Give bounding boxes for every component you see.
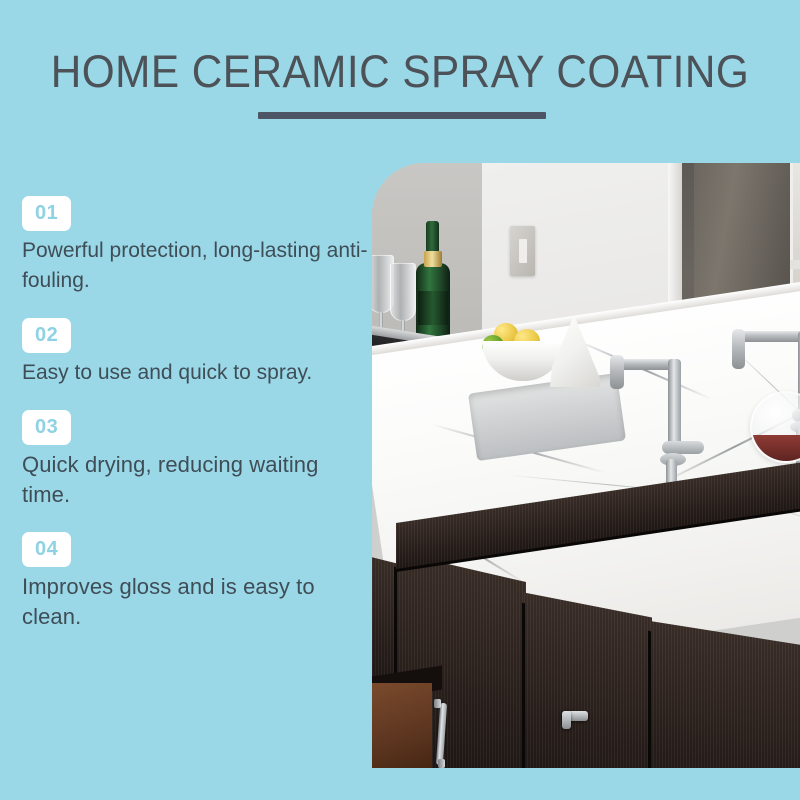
- cabinet-pull-foot: [434, 699, 441, 708]
- feature-item-04: 04 Improves gloss and is easy to clean.: [0, 532, 372, 632]
- feature-badge-01: 01: [22, 196, 71, 231]
- page-title: HOME CERAMIC SPRAY COATING: [24, 46, 776, 98]
- wine-liquid: [752, 435, 800, 461]
- photo-scene: [372, 163, 800, 768]
- feature-item-02: 02 Easy to use and quick to spray.: [0, 318, 372, 388]
- feature-badge-04: 04: [22, 532, 71, 567]
- header: HOME CERAMIC SPRAY COATING: [0, 0, 800, 140]
- feature-list: 01 Powerful protection, long-lasting ant…: [0, 196, 372, 654]
- cabinet-door-center: [524, 593, 652, 768]
- wall-outlet-plate: [510, 226, 535, 276]
- kitchen-countertop-photo: [372, 163, 800, 768]
- cabinet-seam: [648, 631, 651, 768]
- feature-badge-02: 02: [22, 318, 71, 353]
- champagne-bottle-label: [418, 291, 448, 325]
- feature-text-02: Easy to use and quick to spray.: [22, 358, 370, 388]
- feature-text-03: Quick drying, reducing waiting time.: [22, 450, 370, 510]
- feature-text-01: Powerful protection, long-lasting anti-f…: [22, 236, 370, 296]
- wood-floor: [372, 683, 432, 768]
- champagne-bottle-foil: [424, 251, 442, 267]
- cabinet-knob-stem: [562, 711, 571, 729]
- feature-item-03: 03 Quick drying, reducing waiting time.: [0, 410, 372, 510]
- feature-item-01: 01 Powerful protection, long-lasting ant…: [0, 196, 372, 296]
- flute-cup: [390, 263, 416, 321]
- feature-badge-03: 03: [22, 410, 71, 445]
- cabinet-pull-foot: [438, 759, 445, 768]
- title-underline-divider: [258, 112, 546, 119]
- cabinet-seam: [522, 603, 525, 768]
- cabinet-door-right: [650, 621, 800, 768]
- feature-text-04: Improves gloss and is easy to clean.: [22, 572, 370, 632]
